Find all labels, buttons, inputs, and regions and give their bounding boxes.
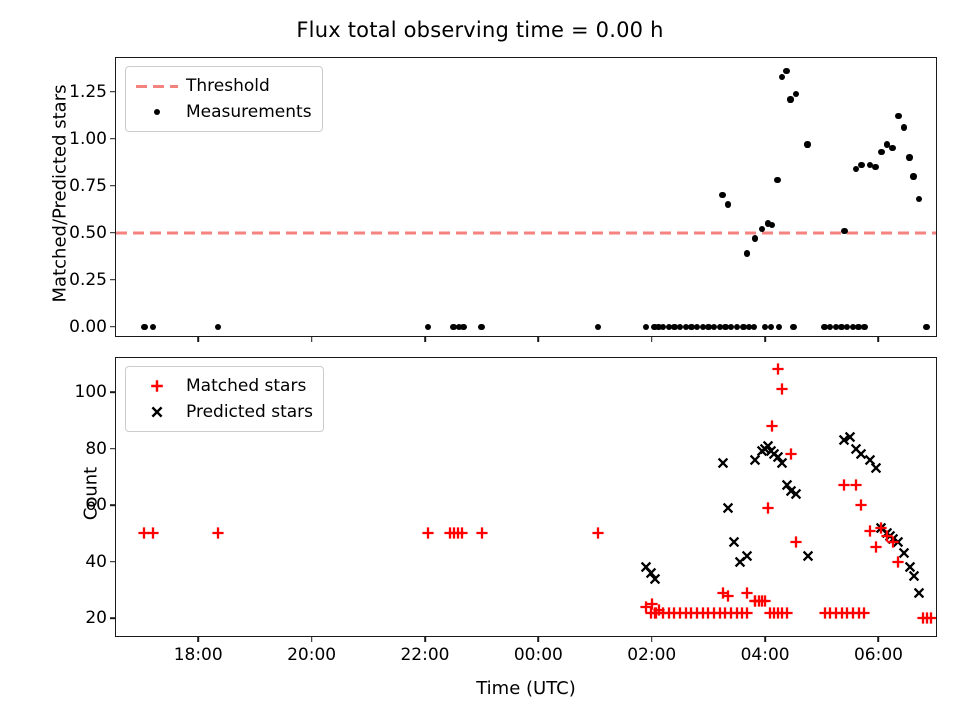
top-panel-axes: Matched/Predicted stars Threshold Measur…: [115, 57, 937, 337]
data-point-matched-star: [848, 477, 864, 493]
data-point-measurement: [923, 324, 929, 330]
y-tick-mark: [110, 561, 116, 563]
dot-marker-icon: [134, 109, 180, 115]
page-title: Flux total observing time = 0.00 h: [0, 18, 960, 42]
data-point-measurement: [787, 96, 793, 102]
data-point-matched-star: [853, 497, 869, 513]
x-tick-mark: [424, 636, 426, 642]
data-point-measurement: [595, 324, 601, 330]
data-point-matched-star: [754, 593, 770, 609]
data-point-predicted-star: [715, 455, 731, 471]
data-point-measurement: [793, 91, 799, 97]
x-tick-label: 04:00: [741, 645, 790, 665]
data-point-measurement: [901, 124, 907, 130]
x-tick-mark: [651, 336, 653, 342]
legend-label-threshold: Threshold: [180, 76, 270, 96]
y-tick-label: 100: [75, 382, 107, 402]
legend-item-measurements: Measurements: [134, 99, 312, 125]
y-tick-mark: [110, 326, 116, 328]
data-point-measurement: [744, 250, 750, 256]
data-point-matched-star: [783, 446, 799, 462]
y-tick-mark: [110, 279, 116, 281]
y-tick-mark: [110, 504, 116, 506]
data-point-measurement: [895, 113, 901, 119]
x-tick-mark: [651, 636, 653, 642]
threshold-line: [116, 231, 936, 234]
data-point-matched-star: [210, 525, 226, 541]
x-axis-label: Time (UTC): [115, 678, 937, 699]
data-point-measurement: [768, 324, 774, 330]
data-point-measurement: [752, 235, 758, 241]
data-point-measurement: [804, 141, 810, 147]
y-tick-label: 0.25: [69, 270, 107, 290]
x-tick-label: 20:00: [287, 645, 336, 665]
y-tick-label: 60: [85, 495, 107, 515]
data-point-matched-star: [890, 554, 906, 570]
data-point-measurement: [910, 173, 916, 179]
y-tick-mark: [110, 617, 116, 619]
data-point-measurement: [425, 324, 431, 330]
data-point-matched-star: [454, 525, 470, 541]
y-tick-label: 20: [85, 608, 107, 628]
top-panel-legend: Threshold Measurements: [125, 66, 323, 132]
data-point-matched-star: [764, 418, 780, 434]
x-tick-mark: [197, 636, 199, 642]
data-point-predicted-star: [868, 460, 884, 476]
y-tick-label: 1.25: [69, 82, 107, 102]
y-tick-mark: [110, 185, 116, 187]
data-point-measurement: [916, 196, 922, 202]
data-point-measurement: [734, 324, 740, 330]
legend-item-matched-stars: Matched stars: [134, 373, 313, 399]
data-point-matched-star: [420, 525, 436, 541]
matplotlib-figure: Flux total observing time = 0.00 h Match…: [0, 0, 960, 720]
x-tick-mark: [878, 636, 880, 642]
legend-label-predicted-stars: Predicted stars: [180, 402, 313, 422]
data-point-measurement: [878, 149, 884, 155]
data-point-measurement: [150, 324, 156, 330]
x-tick-mark: [764, 336, 766, 342]
dashed-line-icon: [134, 85, 180, 88]
data-point-matched-star: [590, 525, 606, 541]
x-tick-label: 18:00: [174, 645, 223, 665]
y-tick-label: 0.75: [69, 176, 107, 196]
legend-label-measurements: Measurements: [180, 102, 312, 122]
data-point-measurement: [774, 177, 780, 183]
y-tick-label: 1.00: [69, 129, 107, 149]
y-tick-label: 0.50: [69, 223, 107, 243]
x-tick-mark: [538, 636, 540, 642]
x-tick-mark: [311, 336, 313, 342]
data-point-matched-star: [923, 610, 936, 626]
bottom-panel-axes: Count Matched stars Predicted stars 2040…: [115, 357, 937, 637]
x-tick-mark: [538, 336, 540, 342]
data-point-matched-star: [885, 534, 901, 550]
y-tick-mark: [110, 138, 116, 140]
data-point-predicted-star: [906, 568, 922, 584]
data-point-matched-star: [145, 525, 161, 541]
data-point-predicted-star: [647, 571, 663, 587]
data-point-predicted-star: [739, 548, 755, 564]
data-point-matched-star: [779, 605, 795, 621]
top-panel-ylabel: Matched/Predicted stars: [50, 54, 71, 334]
data-point-measurement: [643, 324, 649, 330]
data-point-measurement: [906, 154, 912, 160]
data-point-measurement: [861, 324, 867, 330]
data-point-predicted-star: [911, 585, 927, 601]
legend-item-predicted-stars: Predicted stars: [134, 399, 313, 425]
y-tick-label: 80: [85, 439, 107, 459]
data-point-measurement: [779, 74, 785, 80]
data-point-matched-star: [651, 602, 667, 618]
y-tick-label: 40: [85, 552, 107, 572]
data-point-measurement: [889, 145, 895, 151]
x-tick-mark: [878, 336, 880, 342]
y-tick-mark: [110, 391, 116, 393]
data-point-measurement: [872, 164, 878, 170]
data-point-predicted-star: [788, 486, 804, 502]
data-point-matched-star: [770, 361, 786, 377]
data-point-matched-star: [856, 605, 872, 621]
data-point-predicted-star: [720, 500, 736, 516]
x-tick-label: 00:00: [514, 645, 563, 665]
data-point-matched-star: [788, 534, 804, 550]
y-tick-mark: [110, 448, 116, 450]
data-point-measurement: [751, 324, 757, 330]
data-point-measurement: [769, 222, 775, 228]
y-tick-label: 0.00: [69, 317, 107, 337]
data-point-measurement: [215, 324, 221, 330]
bottom-panel-legend: Matched stars Predicted stars: [125, 366, 324, 432]
data-point-matched-star: [474, 525, 490, 541]
data-point-measurement: [478, 324, 484, 330]
plus-marker-icon: [134, 378, 180, 394]
data-point-measurement: [725, 201, 731, 207]
legend-item-threshold: Threshold: [134, 73, 312, 99]
y-tick-mark: [110, 91, 116, 93]
cross-marker-icon: [134, 404, 180, 420]
x-tick-label: 22:00: [400, 645, 449, 665]
legend-label-matched-stars: Matched stars: [180, 376, 306, 396]
data-point-measurement: [790, 324, 796, 330]
x-tick-mark: [311, 636, 313, 642]
data-point-measurement: [841, 228, 847, 234]
x-tick-label: 06:00: [854, 645, 903, 665]
data-point-matched-star: [760, 500, 776, 516]
data-point-matched-star: [720, 588, 736, 604]
x-tick-label: 02:00: [627, 645, 676, 665]
data-point-predicted-star: [800, 548, 816, 564]
data-point-measurement: [776, 324, 782, 330]
data-point-measurement: [783, 68, 789, 74]
x-tick-mark: [197, 336, 199, 342]
x-tick-mark: [764, 636, 766, 642]
data-point-measurement: [141, 324, 147, 330]
data-point-measurement: [858, 162, 864, 168]
x-tick-mark: [424, 336, 426, 342]
data-point-measurement: [719, 192, 725, 198]
data-point-measurement: [460, 324, 466, 330]
data-point-matched-star: [774, 381, 790, 397]
